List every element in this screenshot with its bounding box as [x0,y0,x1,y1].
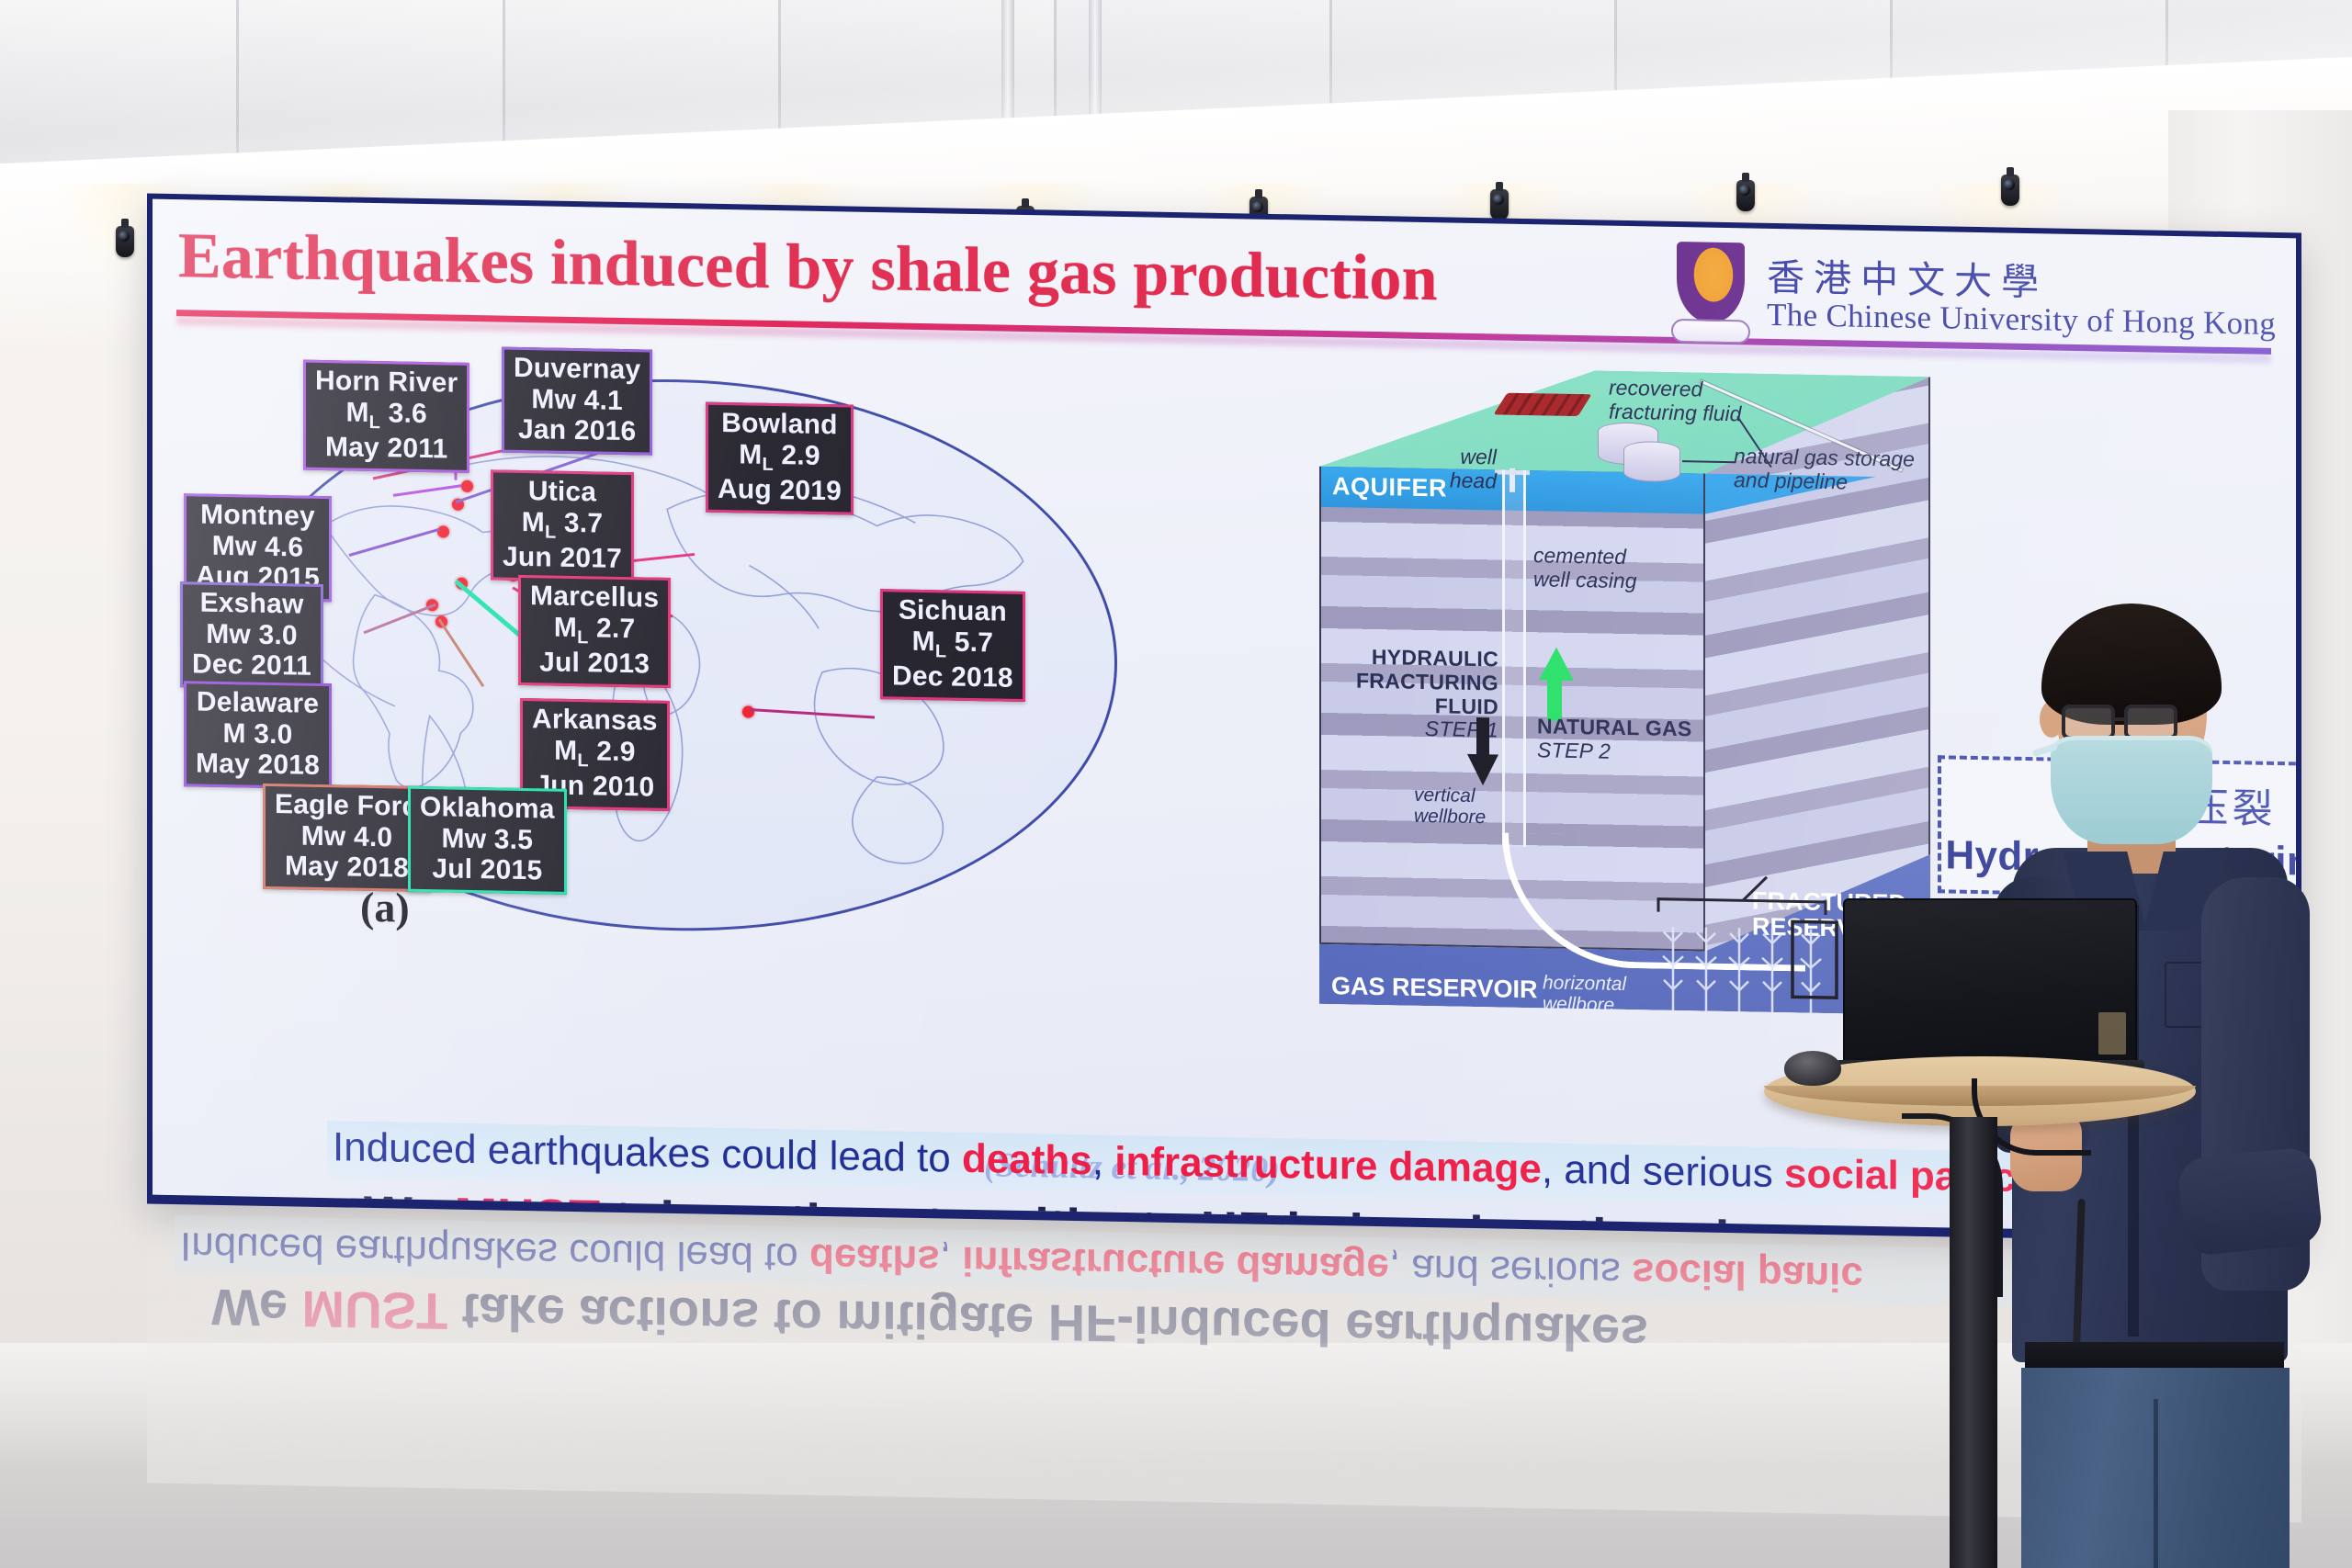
map-label-exshaw: Exshaw Mw 3.0 Dec 2011 [180,581,323,690]
label-magnitude: ML 3.6 [315,396,458,434]
logo-english-name: The Chinese University of Hong Kong [1767,298,2276,341]
b1-part3: , and serious [1542,1146,1784,1196]
horizontal-line2: wellbore [1543,993,1626,1016]
label-name: Bowland [718,408,842,441]
ceiling-spotlight [2001,175,2019,206]
label-date: Aug 2019 [718,474,842,507]
label-name: Utica [503,476,622,509]
label-name: Oklahoma [420,792,555,825]
well-head-label: well head [1438,445,1497,493]
recovered-fluid-label: recovered fracturing fluid [1609,377,1741,426]
vertical-line2: wellbore [1414,806,1486,829]
cuhk-shield-icon [1671,242,1750,346]
computer-mouse[interactable] [1784,1051,1841,1086]
map-label-marcellus: Marcellus ML 2.7 Jul 2013 [518,575,671,688]
label-name: Eagle Ford [275,789,419,822]
recovered-fluid-line1: recovered [1609,377,1741,402]
b1-red2: infrastructure damage [1114,1139,1542,1192]
label-name: Sichuan [892,594,1013,627]
hydraulic-line2: FRACTURING FLUID [1333,669,1498,719]
label-magnitude: Mw 3.0 [192,618,311,651]
label-name: Montney [196,499,320,532]
label-date: Dec 2018 [892,660,1013,694]
label-magnitude: ML 2.9 [532,735,658,773]
laptop-brand-tag [2098,1012,2126,1055]
label-date: Jul 2015 [420,853,555,886]
ceiling-spotlight [116,226,134,257]
ceiling-spotlight [1490,189,1509,220]
gas-reservoir-label: GAS RESERVOIR [1331,972,1538,1004]
label-date: May 2011 [315,432,458,465]
label-magnitude: Mw 4.6 [196,530,320,563]
glasses-bridge [2115,717,2126,721]
label-date: Dec 2011 [192,649,311,682]
podium-table [1764,1029,2242,1568]
label-magnitude: ML 3.7 [503,506,622,544]
label-name: Marcellus [530,581,659,614]
vertical-line1: vertical [1414,784,1486,807]
natural-gas-step: STEP 2 [1537,739,1692,765]
map-label-sichuan: Sichuan ML 5.7 Dec 2018 [880,589,1025,701]
label-magnitude: ML 5.7 [892,626,1013,663]
label-name: Delaware [196,686,320,719]
label-date: May 2018 [275,851,419,884]
gas-storage-line2: and pipeline [1734,468,1915,495]
label-date: May 2018 [196,749,320,782]
map-label-delaware: Delaware M 3.0 May 2018 [184,681,332,789]
map-label-oklahoma: Oklahoma Mw 3.5 Jul 2015 [408,786,567,895]
vertical-wellbore-label: vertical wellbore [1414,784,1486,829]
cemented-line1: cemented [1533,544,1637,570]
map-label-utica: Utica ML 3.7 Jun 2017 [491,469,634,581]
label-magnitude: Mw 4.0 [275,820,419,853]
figure-panel-tag: (a) [360,883,410,932]
label-date: Jan 2016 [514,414,640,447]
b1-red1: deaths [962,1136,1092,1184]
cemented-casing-label: cemented well casing [1533,544,1637,593]
map-label-duvernay: Duvernay Mw 4.1 Jan 2016 [502,347,652,456]
ceiling-spotlight [1736,180,1755,211]
presentation-scene: Earthquakes induced by shale gas product… [0,0,2352,1568]
glasses-right-lens [2124,705,2177,739]
cemented-line2: well casing [1533,568,1637,593]
page-title: Earthquakes induced by shale gas product… [178,220,1438,316]
injection-arrow-stem [1476,717,1489,759]
drilling-rig-icon [1494,393,1592,416]
hydraulic-step: STEP 1 [1333,716,1498,742]
label-name: Horn River [315,366,458,399]
label-magnitude: Mw 4.1 [514,383,640,416]
label-date: Jun 2017 [503,542,622,575]
hydraulic-fluid-label: HYDRAULIC FRACTURING FLUID STEP 1 [1333,645,1498,742]
label-name: Arkansas [532,704,658,737]
storage-tank-icon [1623,441,1680,482]
laptop-screen [1843,898,2137,1064]
label-magnitude: M 3.0 [196,717,320,750]
map-label-eagle-ford: Eagle Ford Mw 4.0 May 2018 [263,784,431,892]
label-magnitude: ML 2.9 [718,438,842,476]
table-stem [1950,1117,1997,1568]
map-label-horn-river: Horn River ML 3.6 May 2011 [303,360,469,473]
b1-part1: Induced earthquakes could lead to [333,1124,962,1181]
vertical-wellbore [1502,470,1526,847]
recovered-fluid-line2: fracturing fluid [1609,400,1741,425]
horizontal-wellbore-label: horizontal wellbore [1543,972,1626,1016]
well-head-line1: well [1438,445,1497,469]
b1-part2: , [1092,1138,1114,1183]
label-date: Jul 2013 [530,647,659,680]
injection-arrow-icon [1467,754,1498,786]
face-mask [2051,736,2212,844]
well-head-line2: head [1438,468,1497,493]
glasses-left-lens [2062,705,2115,739]
aquifer-label: AQUIFER [1332,472,1447,502]
gas-arrow-icon [1539,647,1574,681]
label-name: Duvernay [514,353,640,386]
label-magnitude: ML 2.7 [530,612,659,649]
label-name: Exshaw [192,587,311,620]
world-map-panel: Montney Mw 4.6 Aug 2015 Horn River ML 3.… [180,335,1214,998]
label-magnitude: Mw 3.5 [420,823,555,856]
natural-gas-label: NATURAL GAS STEP 2 [1537,715,1692,765]
horizontal-line1: horizontal [1543,972,1626,995]
map-label-bowland: Bowland ML 2.9 Aug 2019 [706,402,854,515]
